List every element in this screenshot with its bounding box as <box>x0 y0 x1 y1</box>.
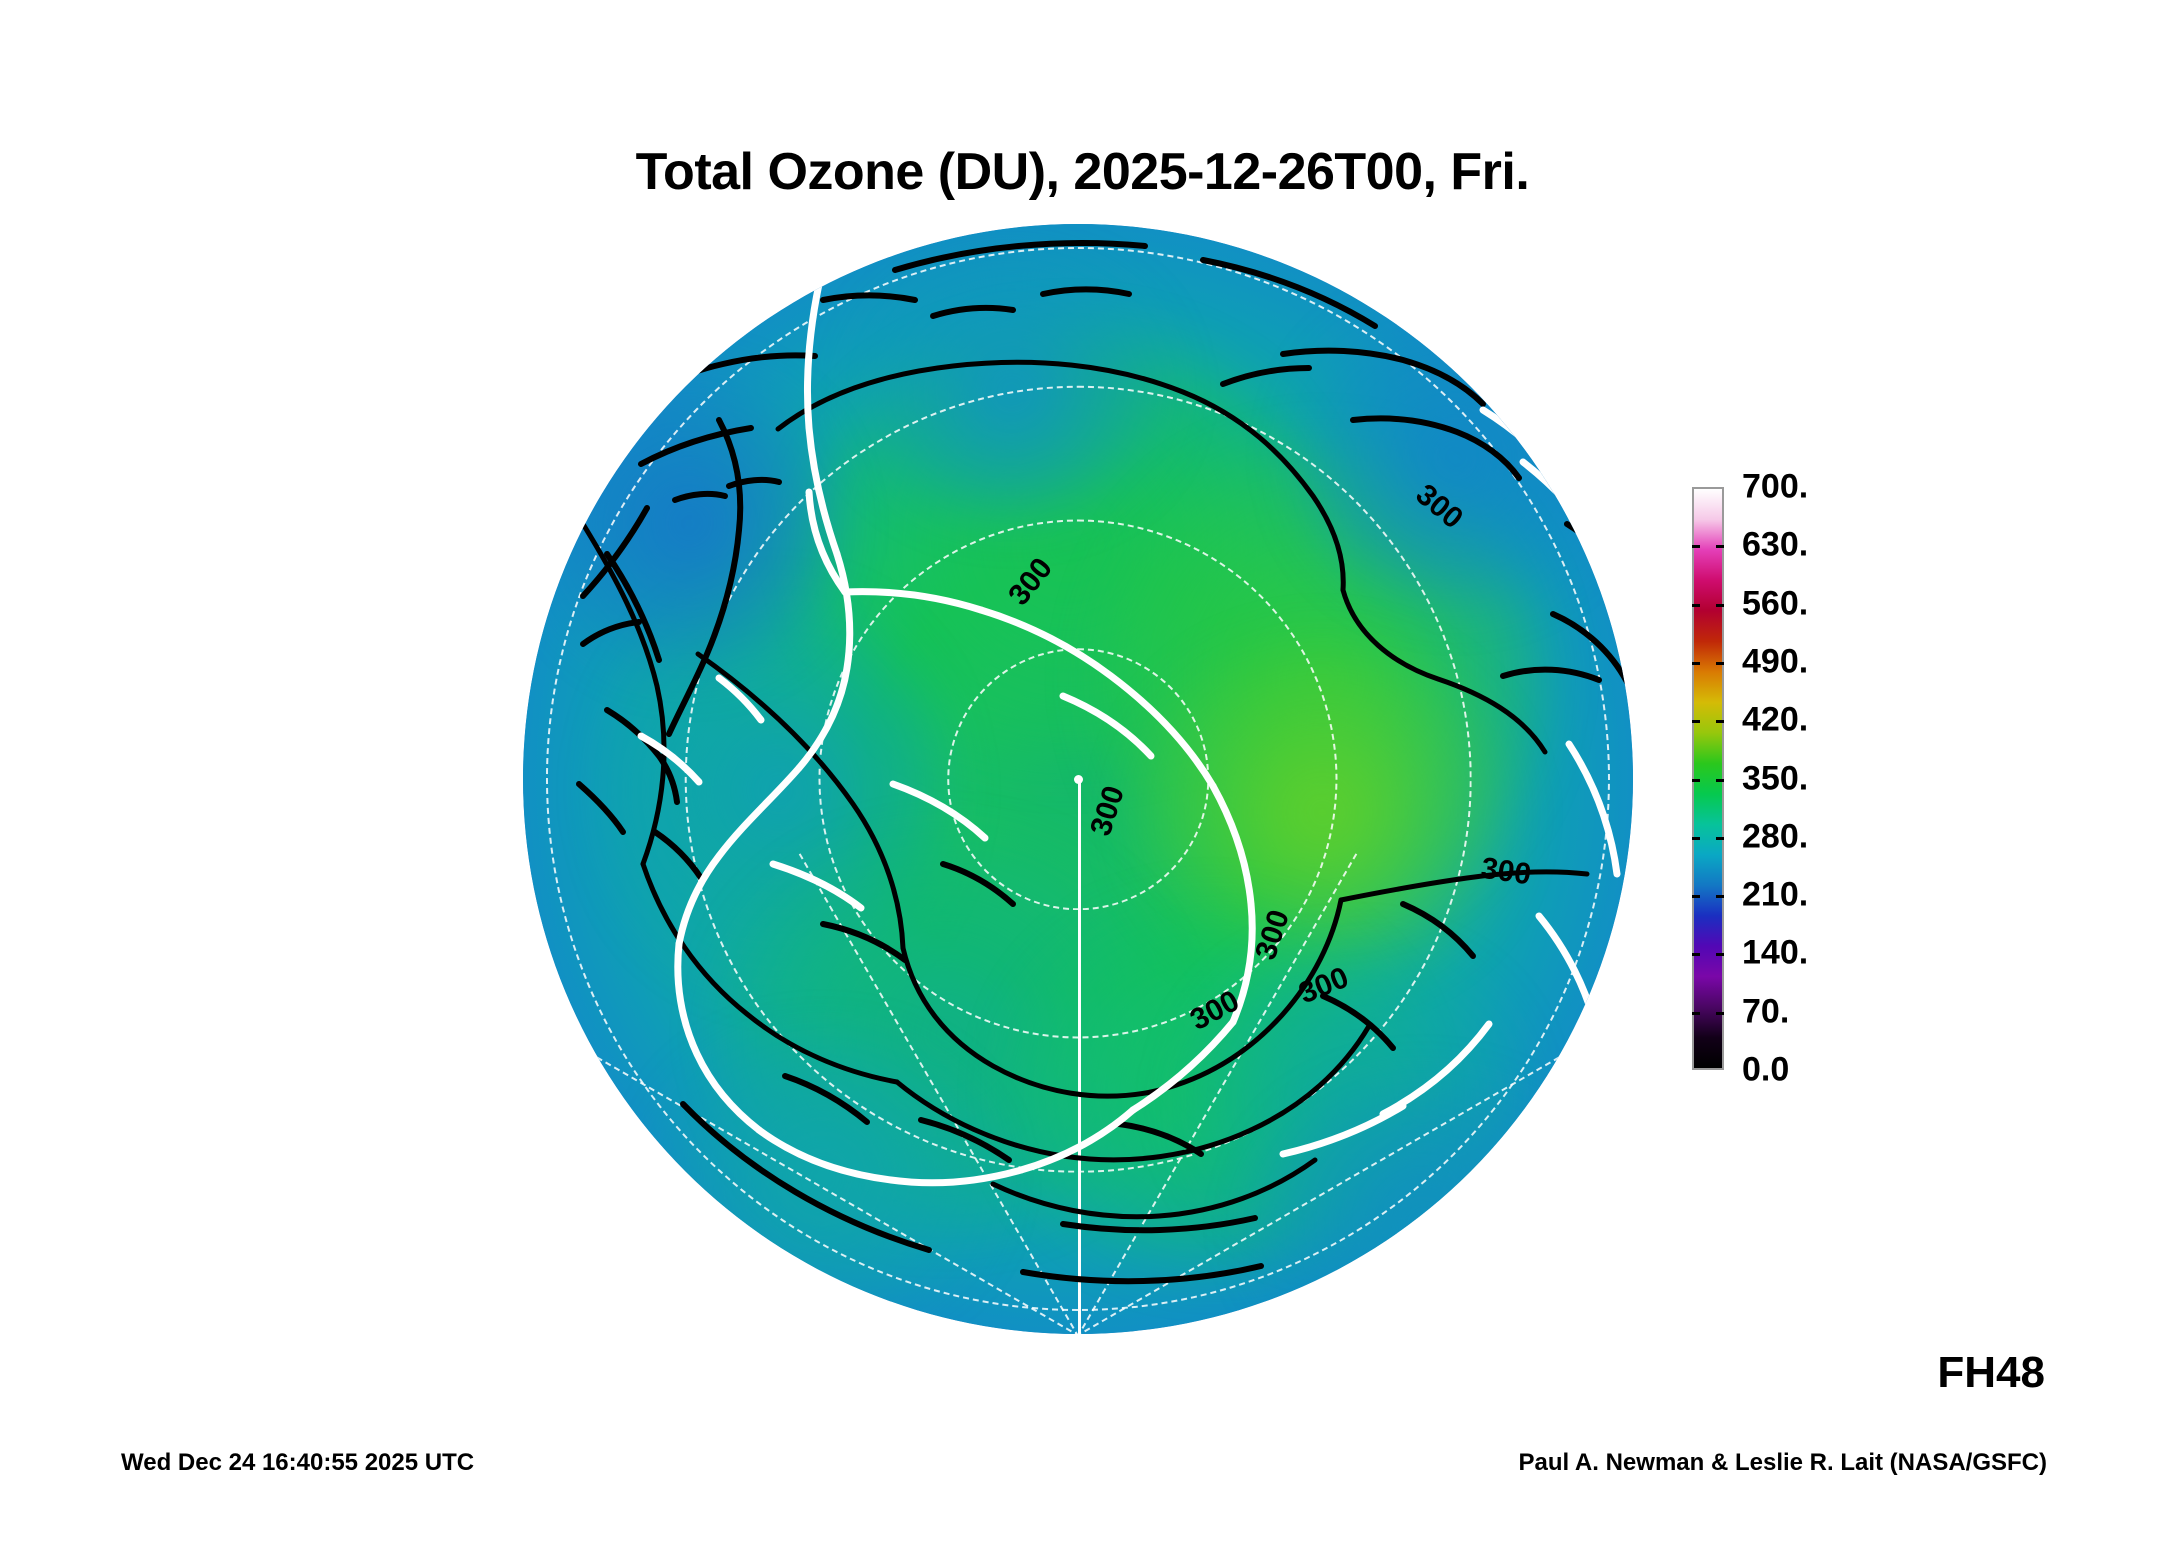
colorbar-tick <box>1716 953 1724 956</box>
colorbar-tick <box>1716 545 1724 548</box>
colorbar-tick-label: 560. <box>1742 584 1808 623</box>
colorbar-tick <box>1716 779 1724 782</box>
contour-value-label: 300 <box>1479 852 1533 893</box>
colorbar-tick <box>1692 545 1700 548</box>
colorbar-tick <box>1692 662 1700 665</box>
colorbar-tick-label: 420. <box>1742 701 1808 740</box>
colorbar-tick <box>1692 720 1700 723</box>
colorbar-tick-label: 630. <box>1742 526 1808 565</box>
page-title: Total Ozone (DU), 2025-12-26T00, Fri. <box>0 142 2165 202</box>
ozone-map: 300300300300300300300 <box>523 224 1633 1334</box>
colorbar-tick-label: 140. <box>1742 934 1808 973</box>
colorbar-tick-label: 70. <box>1742 992 1789 1031</box>
colorbar-tick-label: 350. <box>1742 759 1808 798</box>
colorbar-tick <box>1716 720 1724 723</box>
credit-line: Paul A. Newman & Leslie R. Lait (NASA/GS… <box>1518 1449 2047 1477</box>
colorbar-tick <box>1716 662 1724 665</box>
colorbar-tick <box>1692 953 1700 956</box>
ice-shelf-outline <box>641 284 1617 1183</box>
colorbar-ticks <box>1692 487 1724 1070</box>
colorbar-tick-label: 700. <box>1742 468 1808 507</box>
forecast-hour-label: FH48 <box>1937 1348 2045 1398</box>
map-overlay <box>523 224 1633 1334</box>
colorbar-tick-label: 210. <box>1742 876 1808 915</box>
colorbar-tick <box>1716 604 1724 607</box>
colorbar-tick <box>1692 779 1700 782</box>
colorbar-tick-label: 280. <box>1742 817 1808 856</box>
colorbar-tick <box>1716 1012 1724 1015</box>
colorbar-tick-label: 490. <box>1742 642 1808 681</box>
colorbar-tick <box>1716 837 1724 840</box>
colorbar-tick-label: 0.0 <box>1742 1051 1789 1090</box>
globe-disk: 300300300300300300300 <box>523 224 1633 1334</box>
colorbar-tick <box>1692 1012 1700 1015</box>
colorbar-tick <box>1716 895 1724 898</box>
colorbar-tick <box>1692 895 1700 898</box>
coastline-group <box>553 243 1627 1281</box>
colorbar-tick <box>1692 837 1700 840</box>
generated-timestamp: Wed Dec 24 16:40:55 2025 UTC <box>121 1449 474 1477</box>
colorbar-tick <box>1692 604 1700 607</box>
